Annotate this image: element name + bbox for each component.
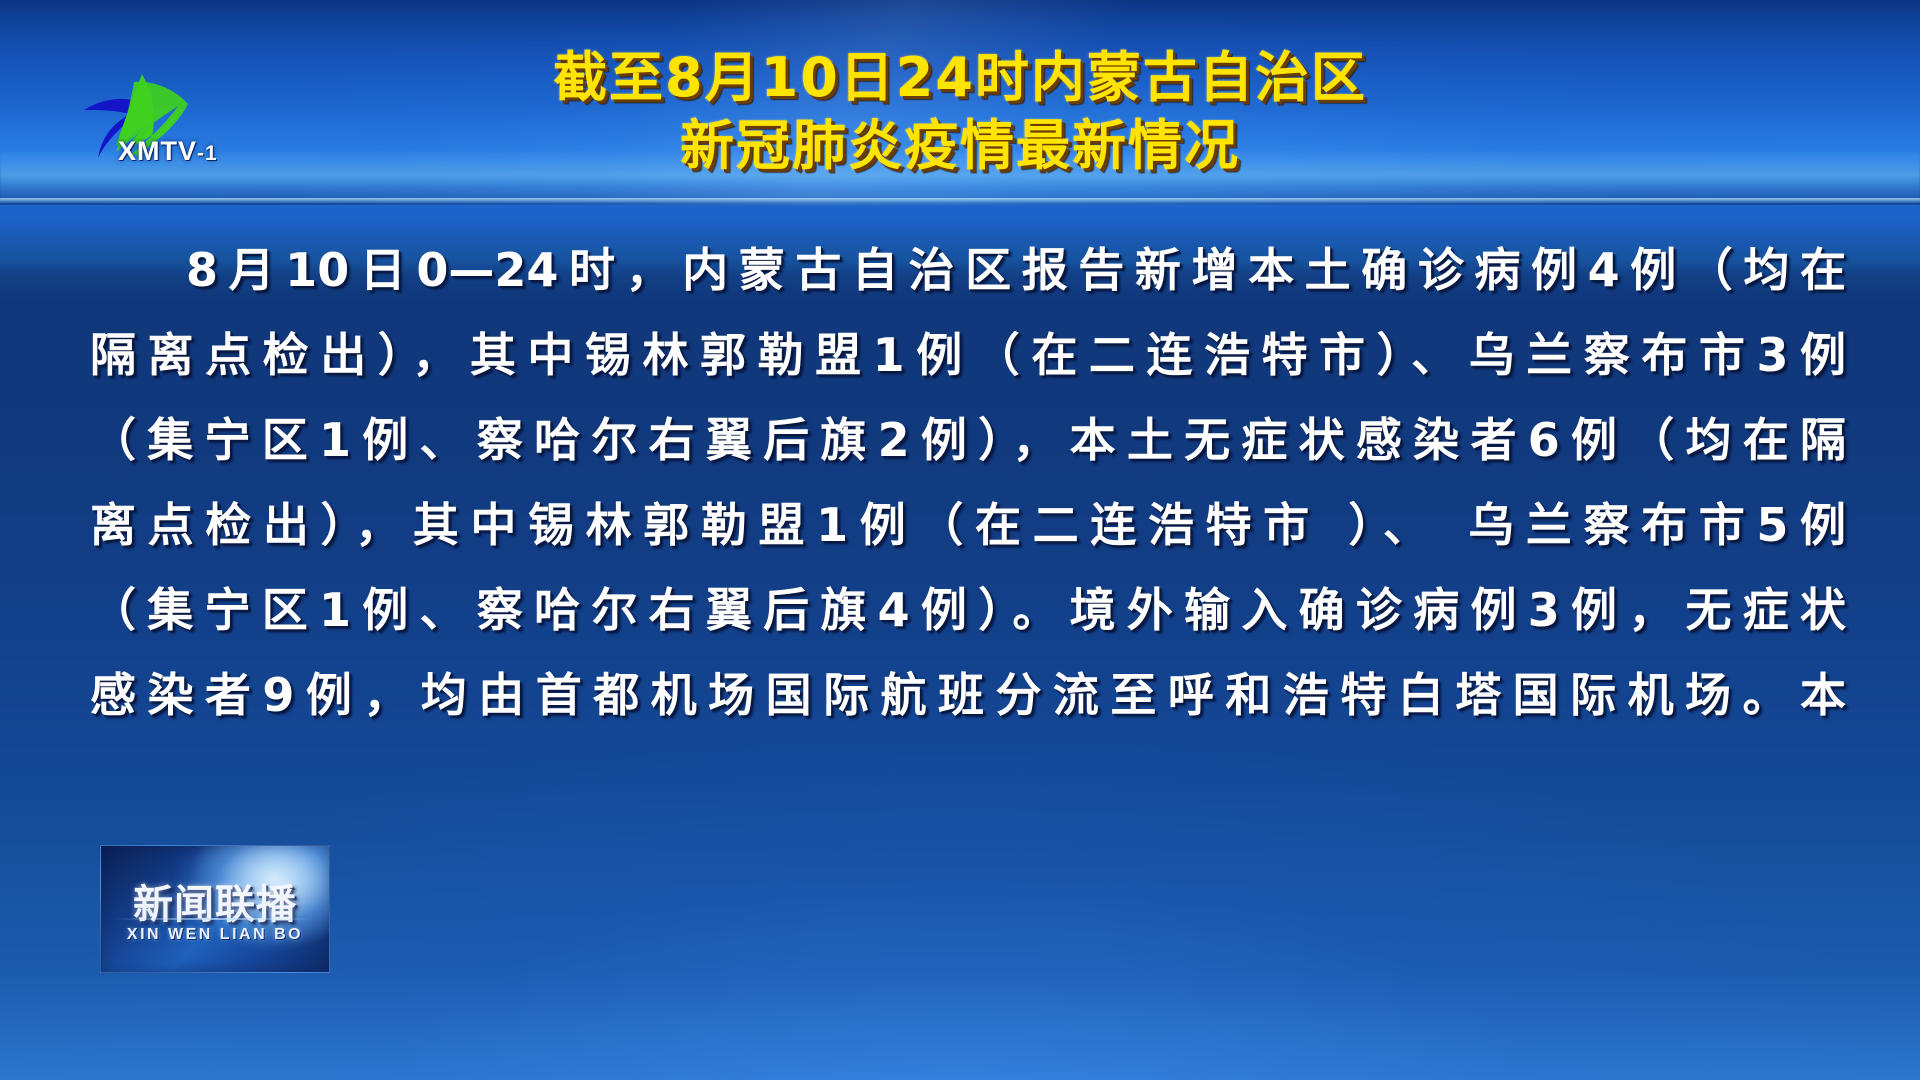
title-line-1: 截至8月10日24时内蒙古自治区 — [0, 44, 1920, 112]
news-body-line: 隔离点检出），其中锡林郭勒盟1例（在二连浩特市）、乌兰察布市3例 — [90, 313, 1846, 398]
header-underline — [0, 198, 1920, 203]
page-title: 截至8月10日24时内蒙古自治区 新冠肺炎疫情最新情况 — [0, 44, 1920, 180]
program-name-pinyin: XIN WEN LIAN BO — [101, 926, 329, 944]
news-body-line: 感染者9例，均由首都机场国际航班分流至呼和浩特白塔国际机场。本 — [90, 653, 1846, 738]
news-body: 8月10日0—24时，内蒙古自治区报告新增本土确诊病例4例（均在 隔离点检出），… — [90, 228, 1846, 738]
news-body-line: （集宁区1例、察哈尔右翼后旗2例），本土无症状感染者6例（均在隔 — [90, 398, 1846, 483]
program-name: 新闻联播 — [101, 872, 329, 930]
broadcast-screen: XMTV-1 截至8月10日24时内蒙古自治区 新冠肺炎疫情最新情况 8月10日… — [0, 0, 1920, 1080]
news-body-line: 8月10日0—24时，内蒙古自治区报告新增本土确诊病例4例（均在 — [90, 228, 1846, 313]
program-logo-divider — [115, 918, 315, 920]
title-line-2: 新冠肺炎疫情最新情况 — [0, 112, 1920, 180]
news-body-line: （集宁区1例、察哈尔右翼后旗4例）。境外输入确诊病例3例，无症状 — [90, 568, 1846, 653]
program-logo: 新闻联播 XIN WEN LIAN BO — [100, 845, 330, 973]
news-body-line: 离点检出），其中锡林郭勒盟1例（在二连浩特市 ）、 乌兰察布市5例 — [90, 483, 1846, 568]
